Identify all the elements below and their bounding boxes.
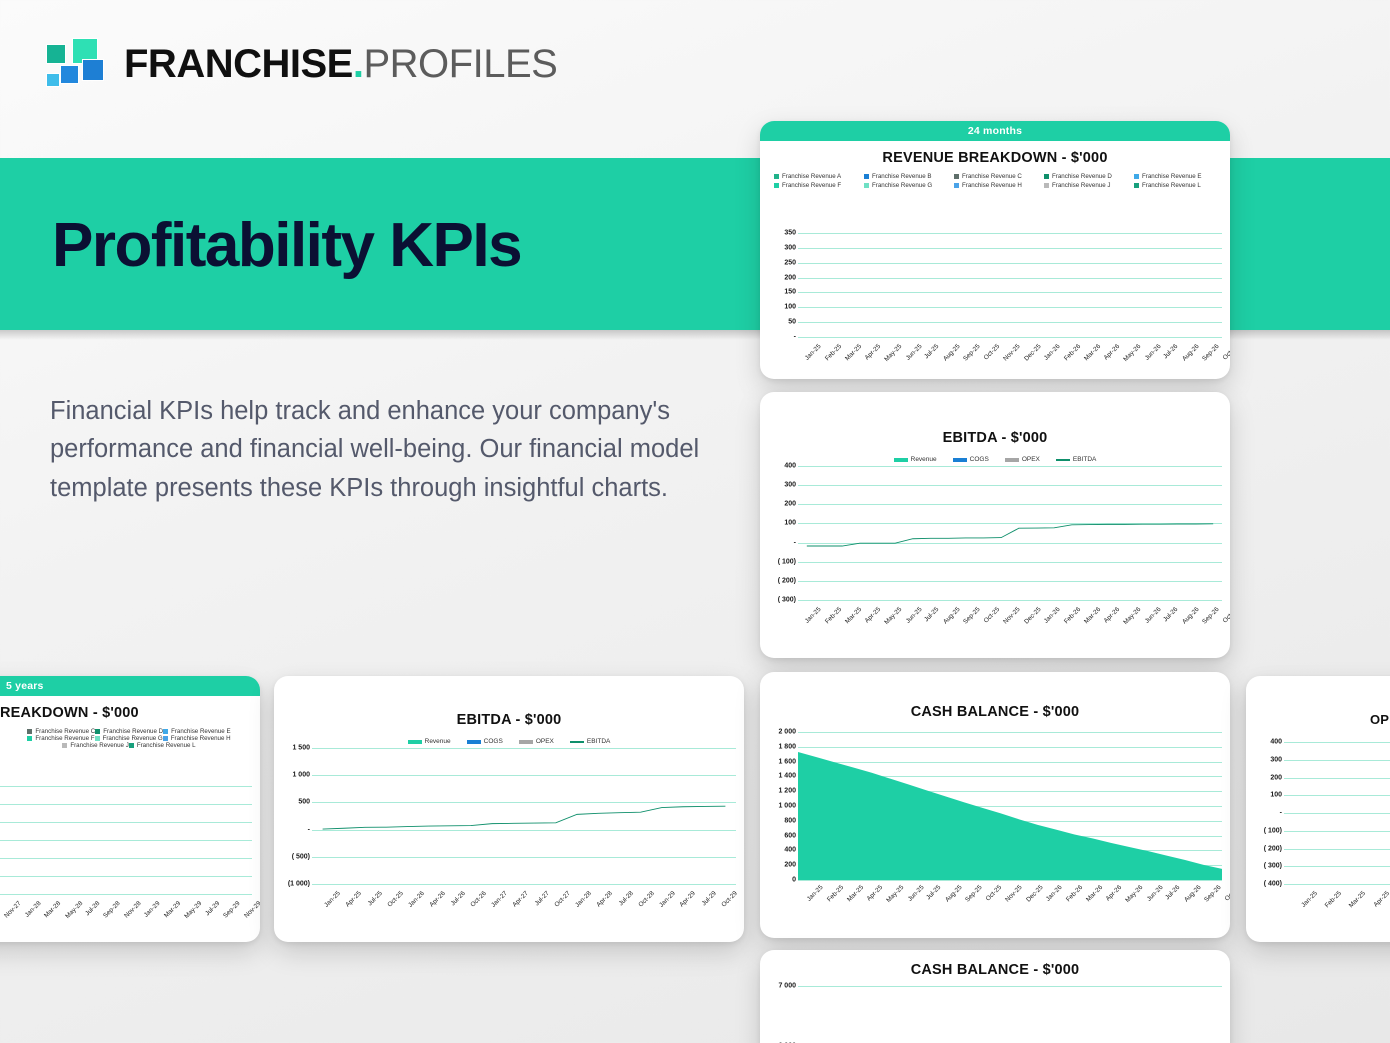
legend-swatch-icon: [519, 740, 533, 744]
x-axis-tick-label: Nov-25: [1002, 606, 1022, 626]
legend-item: Franchise Revenue E: [163, 728, 231, 735]
y-axis-tick-label: 100: [1270, 792, 1282, 799]
x-axis-tick-label: Jan-25: [804, 343, 823, 362]
x-axis-tick-label: Feb-25: [825, 884, 844, 903]
legend-label: OPEX: [1022, 456, 1040, 463]
y-axis-tick-label: 400: [784, 463, 796, 470]
bar-column: [30, 786, 37, 894]
x-axis-tick-label: Mar-25: [846, 884, 865, 903]
legend-swatch-icon: [774, 174, 779, 179]
bar-column: [59, 786, 66, 894]
bar-column: [185, 786, 192, 894]
x-axis-tick-label: Jul-27: [531, 890, 551, 910]
x-axis-tick-label: Jun-25: [904, 606, 923, 625]
x-axis-tick-label: Jul-26: [1164, 884, 1181, 901]
x-axis-tick-label: Jul-25: [925, 884, 942, 901]
x-axis-tick-label: Sep-26: [1203, 884, 1223, 904]
chart-title-ebitda-5y: EBITDA - $'000: [274, 712, 744, 728]
legend-revenue-series: Franchise Revenue AFranchise Revenue BFr…: [760, 173, 1230, 191]
legend-swatch-icon: [1056, 459, 1070, 461]
x-axis-tick-label: Jun-26: [1145, 884, 1164, 903]
x-axis-tick-label: Aug-25: [944, 884, 964, 904]
bar-column: [178, 786, 185, 894]
x-axis-tick-label: Jan-29: [657, 890, 677, 910]
bar-column: [0, 786, 7, 894]
chart-plot-ebitda-24m: 400300200100-( 100)( 200)( 300): [768, 466, 1224, 600]
x-axis-tick-label: Oct-26: [468, 890, 488, 910]
cash-balance-area: [798, 732, 1222, 880]
chart-plot-opex: 400300200100-( 100)( 200)( 300)( 400): [1254, 742, 1390, 884]
legend-item: OPEX: [519, 738, 554, 745]
chart-title-revenue-24m: REVENUE BREAKDOWN - $'000: [760, 150, 1230, 166]
bar-column: [1381, 742, 1390, 884]
y-axis-tick-label: ( 300): [778, 597, 796, 604]
x-axis-tick-label: Mar-25: [844, 343, 863, 362]
x-axis-tick-label: Jul-28: [84, 900, 101, 917]
x-axis-tick-label: Apr-25: [1369, 890, 1390, 912]
chart-xaxis-ebitda-5y: Jan-25Apr-25Jul-25Oct-25Jan-26Apr-26Jul-…: [316, 890, 734, 897]
y-axis-tick-label: ( 500): [292, 853, 310, 860]
card-ebitda-5y[interactable]: EBITDA - $'000 RevenueCOGSOPEXEBITDA 1 5…: [274, 676, 744, 942]
ebitda-line-overlay: [312, 748, 736, 884]
legend-item: Revenue: [408, 738, 451, 745]
bar-column: [44, 786, 51, 894]
bar-column: [975, 233, 993, 337]
logo-dot: .: [353, 42, 364, 86]
bar-column: [89, 786, 96, 894]
x-axis-tick-label: Aug-26: [1181, 343, 1201, 363]
bar-column: [126, 786, 133, 894]
x-axis-tick-label: Feb-25: [823, 343, 842, 362]
x-axis-tick-label: Oct-27: [552, 890, 572, 910]
chart-bars: [1284, 742, 1390, 884]
y-axis-tick-label: 800: [784, 817, 796, 824]
chart-plot-revenue-24m: -50100150200250300350: [768, 233, 1224, 337]
bar-column: [886, 233, 904, 337]
legend-label: OPEX: [536, 738, 554, 745]
card-opex[interactable]: OPE 400300200100-( 100)( 200)( 300)( 400…: [1246, 676, 1390, 942]
x-axis-tick-label: Apr-25: [864, 606, 883, 625]
chart-title-opex: OPE: [1246, 712, 1390, 727]
legend-swatch-icon: [1134, 174, 1139, 179]
y-axis-tick-label: 150: [784, 289, 796, 296]
x-axis-tick-label: Feb-26: [1065, 884, 1084, 903]
x-axis-tick-label: May-26: [1123, 606, 1143, 626]
x-axis-tick-label: Mar-26: [1083, 606, 1102, 625]
bar-column: [1151, 233, 1169, 337]
bar-column: [1045, 233, 1063, 337]
legend-item: Franchise Revenue A: [770, 173, 860, 180]
legend-revenue-5y-series: Franchise Revenue CFranchise Revenue DFr…: [0, 728, 260, 749]
x-axis-tick-label: Oct-25: [385, 890, 405, 910]
y-axis-tick-label: 7 000: [778, 983, 796, 990]
x-axis-tick-label: Jul-26: [1162, 343, 1179, 360]
bar-column: [111, 786, 118, 894]
x-axis-tick-label: Sep-26: [1201, 343, 1221, 363]
x-axis-tick-label: Nov-28: [123, 900, 143, 920]
x-axis-tick-label: May-25: [885, 884, 905, 904]
bar-column: [245, 786, 252, 894]
y-axis-tick-label: 50: [788, 319, 796, 326]
y-axis-tick-label: ( 300): [1264, 863, 1282, 870]
x-axis-tick-label: Sep-25: [962, 343, 982, 363]
legend-label: COGS: [484, 738, 503, 745]
chart-yaxis: 400300200100-( 100)( 200)( 300): [768, 466, 798, 600]
bar-column: [904, 233, 922, 337]
bar-column: [922, 233, 940, 337]
bar-column: [1357, 742, 1381, 884]
legend-item: Franchise Revenue D: [95, 728, 163, 735]
bar-column: [1134, 233, 1152, 337]
legend-label: Franchise Revenue F: [35, 735, 94, 742]
legend-item: COGS: [467, 738, 503, 745]
x-axis-tick-label: Aug-25: [942, 606, 962, 626]
gridline: [798, 600, 1222, 601]
x-axis-tick-label: Sep-27: [0, 900, 2, 920]
chart-xaxis-opex: Jan-25Feb-25Mar-25Apr-25May-25Jun-25Jul-…: [1290, 890, 1390, 897]
legend-item: Revenue: [894, 456, 937, 463]
x-axis-tick-label: May-26: [1123, 343, 1143, 363]
y-axis-tick-label: 1 000: [778, 803, 796, 810]
legend-swatch-icon: [953, 458, 967, 462]
legend-item: Franchise Revenue J: [62, 742, 128, 749]
x-axis-tick-label: Jun-26: [1143, 343, 1162, 362]
x-axis-tick-label: May-28: [64, 900, 84, 920]
bar-column: [869, 233, 887, 337]
y-axis-tick-label: ( 400): [1264, 881, 1282, 888]
chart-title-revenue-5y: REAKDOWN - $'000: [0, 705, 260, 721]
bar-column: [67, 786, 74, 894]
y-axis-tick-label: 300: [784, 482, 796, 489]
x-axis-tick-label: Oct-29: [719, 890, 739, 910]
x-axis-tick-label: Jul-25: [923, 606, 940, 623]
bar-column: [237, 786, 244, 894]
y-axis-tick-label: -: [308, 826, 310, 833]
card-cash-balance-24m[interactable]: CASH BALANCE - $'000 2 0001 8001 6001 40…: [760, 672, 1230, 938]
bar-column: [134, 786, 141, 894]
legend-swatch-icon: [864, 183, 869, 188]
legend-swatch-icon: [774, 183, 779, 188]
x-axis-tick-label: Jan-28: [573, 890, 593, 910]
y-axis-tick-label: -: [794, 539, 796, 546]
ebitda-line-overlay: [798, 466, 1222, 600]
x-axis-tick-label: Apr-26: [1103, 343, 1122, 362]
legend-swatch-icon: [570, 741, 584, 743]
legend-label: Franchise Revenue L: [1142, 182, 1201, 189]
bar-column: [119, 786, 126, 894]
bar-column: [798, 233, 816, 337]
legend-item: Franchise Revenue L: [1130, 182, 1220, 189]
y-axis-tick-label: 600: [784, 832, 796, 839]
x-axis-tick-label: Apr-26: [1103, 606, 1122, 625]
chart-title-ebitda-24m: EBITDA - $'000: [760, 430, 1230, 446]
legend-label: Franchise Revenue A: [782, 173, 841, 180]
legend-swatch-icon: [163, 736, 168, 741]
legend-item: Franchise Revenue H: [163, 735, 231, 742]
x-axis-tick-label: Jun-26: [1143, 606, 1162, 625]
chart-title-cash-5y: CASH BALANCE - $'000: [760, 962, 1230, 978]
gridline: [798, 880, 1222, 881]
x-axis-tick-label: Jul-26: [1162, 606, 1179, 623]
x-axis-tick-label: Apr-25: [343, 890, 363, 910]
chart-plot-revenue-5y: [0, 786, 254, 894]
x-axis-tick-label: Jan-25: [806, 884, 825, 903]
chart-xaxis-ebitda-24m: Jan-25Feb-25Mar-25Apr-25May-25Jun-25Jul-…: [798, 606, 1216, 613]
legend-label: Franchise Revenue L: [137, 742, 196, 749]
card-tab-5-years[interactable]: 5 years: [0, 676, 260, 696]
x-axis-tick-label: Apr-28: [594, 890, 614, 910]
bar-column: [156, 786, 163, 894]
x-axis-tick-label: Jul-26: [448, 890, 468, 910]
chart-plot-cash-5y: 7 0006 0005 000: [768, 986, 1224, 1043]
legend-swatch-icon: [95, 729, 100, 734]
x-axis-tick-label: Jul-28: [615, 890, 635, 910]
bar-column: [816, 233, 834, 337]
x-axis-tick-label: Jun-25: [906, 884, 925, 903]
legend-item: Franchise Revenue C: [27, 728, 95, 735]
legend-label: Franchise Revenue D: [1052, 173, 1112, 180]
bar-column: [1116, 233, 1134, 337]
chart-yaxis: 2 0001 8001 6001 4001 2001 0008006004002…: [768, 732, 798, 880]
gridline: [0, 894, 252, 895]
bar-column: [230, 786, 237, 894]
x-axis-tick-label: Mar-26: [1085, 884, 1104, 903]
legend-swatch-icon: [95, 736, 100, 741]
bar-column: [833, 233, 851, 337]
bar-column: [7, 786, 14, 894]
card-revenue-breakdown-5y[interactable]: 5 years REAKDOWN - $'000 Franchise Reven…: [0, 676, 260, 942]
legend-swatch-icon: [864, 174, 869, 179]
bar-column: [163, 786, 170, 894]
gridline: [1284, 884, 1390, 885]
legend-label: Franchise Revenue J: [70, 742, 128, 749]
x-axis-tick-label: Mar-29: [163, 900, 182, 919]
legend-label: Franchise Revenue H: [962, 182, 1022, 189]
y-axis-tick-label: 1 000: [292, 772, 310, 779]
x-axis-tick-label: Aug-26: [1181, 606, 1201, 626]
bar-column: [82, 786, 89, 894]
y-axis-tick-label: 200: [784, 862, 796, 869]
bar-column: [1204, 233, 1222, 337]
x-axis-tick-label: Sep-28: [102, 900, 122, 920]
legend-item: Franchise Revenue C: [950, 173, 1040, 180]
card-cash-balance-5y[interactable]: CASH BALANCE - $'000 7 0006 0005 000: [760, 950, 1230, 1043]
logo-word-bold: FRANCHISE: [124, 42, 353, 86]
legend-label: Franchise Revenue B: [872, 173, 932, 180]
y-axis-tick-label: 200: [1270, 774, 1282, 781]
x-axis-tick-label: Jul-29: [698, 890, 718, 910]
bar-column: [1333, 742, 1357, 884]
bar-column: [1081, 233, 1099, 337]
x-axis-tick-label: Sep-29: [222, 900, 242, 920]
x-axis-tick-label: Oct-26: [1223, 884, 1230, 903]
chart-xaxis-revenue-5y: Jan-27Mar-27May-27Jul-27Sep-27Nov-27Jan-…: [0, 900, 246, 907]
legend-label: EBITDA: [587, 738, 610, 745]
chart-title-cash-24m: CASH BALANCE - $'000: [760, 704, 1230, 720]
legend-item: Franchise Revenue B: [860, 173, 950, 180]
bar-column: [215, 786, 222, 894]
x-axis-tick-label: Mar-28: [43, 900, 62, 919]
x-axis-tick-label: Jan-29: [143, 900, 162, 919]
x-axis-tick-label: Apr-26: [1105, 884, 1124, 903]
legend-swatch-icon: [1044, 183, 1049, 188]
chart-bars: [0, 786, 252, 894]
bar-column: [22, 786, 29, 894]
bar-column: [96, 786, 103, 894]
legend-item: Franchise Revenue D: [1040, 173, 1130, 180]
hero-body-text: Financial KPIs help track and enhance yo…: [50, 392, 710, 507]
bar-column: [104, 786, 111, 894]
legend-item: Franchise Revenue G: [95, 735, 163, 742]
y-axis-tick-label: 1 500: [292, 745, 310, 752]
x-axis-tick-label: Nov-29: [243, 900, 260, 920]
x-axis-tick-label: Sep-25: [964, 884, 984, 904]
bar-column: [223, 786, 230, 894]
bar-column: [1169, 233, 1187, 337]
card-ebitda-24m[interactable]: EBITDA - $'000 RevenueCOGSOPEXEBITDA 400…: [760, 392, 1230, 658]
legend-label: COGS: [970, 456, 989, 463]
y-axis-tick-label: (1 000): [288, 881, 310, 888]
bar-column: [208, 786, 215, 894]
x-axis-tick-label: Jan-25: [1297, 890, 1319, 912]
logo-wordmark: FRANCHISE.PROFILES: [124, 44, 557, 84]
legend-swatch-icon: [62, 743, 67, 748]
x-axis-tick-label: Jun-25: [904, 343, 923, 362]
x-axis-tick-label: Jan-28: [23, 900, 42, 919]
legend-label: Revenue: [911, 456, 937, 463]
y-axis-tick-label: 1 200: [778, 788, 796, 795]
x-axis-tick-label: Jul-25: [364, 890, 384, 910]
bar-column: [171, 786, 178, 894]
legend-item: COGS: [953, 456, 989, 463]
bar-column: [74, 786, 81, 894]
x-axis-tick-label: Dec-25: [1023, 343, 1043, 363]
y-axis-tick-label: 400: [1270, 739, 1282, 746]
legend-label: Franchise Revenue G: [872, 182, 932, 189]
y-axis-tick-label: ( 200): [778, 577, 796, 584]
x-axis-tick-label: Jul-25: [923, 343, 940, 360]
y-axis-tick-label: -: [1280, 810, 1282, 817]
legend-swatch-icon: [1134, 183, 1139, 188]
bar-column: [15, 786, 22, 894]
x-axis-tick-label: Feb-26: [1063, 343, 1082, 362]
x-axis-tick-label: May-29: [184, 900, 204, 920]
legend-label: Franchise Revenue C: [962, 173, 1022, 180]
card-tab-24-months[interactable]: 24 months: [760, 121, 1230, 141]
legend-item: EBITDA: [570, 738, 610, 745]
card-revenue-breakdown-24m[interactable]: 24 months REVENUE BREAKDOWN - $'000 Fran…: [760, 121, 1230, 379]
x-axis-tick-label: Nov-25: [1004, 884, 1024, 904]
x-axis-tick-label: Apr-26: [427, 890, 447, 910]
y-axis-tick-label: 0: [792, 877, 796, 884]
legend-swatch-icon: [27, 736, 32, 741]
legend-swatch-icon: [1044, 174, 1049, 179]
y-axis-tick-label: 300: [1270, 756, 1282, 763]
chart-xaxis-cash-24m: Jan-25Feb-25Mar-25Apr-25May-25Jun-25Jul-…: [800, 884, 1222, 891]
x-axis-tick-label: Jan-26: [1043, 606, 1062, 625]
x-axis-tick-label: Aug-25: [942, 343, 962, 363]
chart-yaxis: 1 5001 000500-( 500)(1 000): [282, 748, 312, 884]
legend-item: OPEX: [1005, 456, 1040, 463]
x-axis-tick-label: Apr-27: [510, 890, 530, 910]
x-axis-tick-label: Nov-25: [1002, 343, 1022, 363]
x-axis-tick-label: Sep-25: [962, 606, 982, 626]
x-axis-tick-label: Oct-26: [1221, 343, 1230, 362]
bar-column: [148, 786, 155, 894]
legend-item: Franchise Revenue H: [950, 182, 1040, 189]
legend-item: Franchise Revenue F: [770, 182, 860, 189]
legend-swatch-icon: [954, 183, 959, 188]
x-axis-tick-label: Jul-29: [204, 900, 221, 917]
x-axis-tick-label: Jan-26: [1045, 884, 1064, 903]
legend-swatch-icon: [894, 458, 908, 462]
x-axis-tick-label: Oct-28: [636, 890, 656, 910]
legend-swatch-icon: [408, 740, 422, 744]
x-axis-tick-label: Oct-26: [1221, 606, 1230, 625]
legend-swatch-icon: [1005, 458, 1019, 462]
gridline: [312, 884, 736, 885]
x-axis-tick-label: Oct-25: [982, 343, 1001, 362]
x-axis-tick-label: Jan-27: [489, 890, 509, 910]
x-axis-tick-label: Jan-25: [804, 606, 823, 625]
x-axis-tick-label: Aug-26: [1183, 884, 1203, 904]
x-axis-tick-label: Mar-25: [1345, 890, 1367, 912]
bar-column: [37, 786, 44, 894]
y-axis-tick-label: ( 100): [1264, 827, 1282, 834]
legend-label: EBITDA: [1073, 456, 1096, 463]
x-axis-tick-label: Apr-25: [866, 884, 885, 903]
x-axis-tick-label: Sep-26: [1201, 606, 1221, 626]
x-axis-tick-label: Oct-25: [982, 606, 1001, 625]
y-axis-tick-label: 2 000: [778, 729, 796, 736]
x-axis-tick-label: Jan-26: [406, 890, 426, 910]
legend-label: Franchise Revenue C: [35, 728, 95, 735]
y-axis-tick-label: 1 600: [778, 758, 796, 765]
x-axis-tick-label: Apr-25: [864, 343, 883, 362]
legend-item: Franchise Revenue L: [129, 742, 196, 749]
bar-column: [851, 233, 869, 337]
cash-balance-5y-area: [798, 986, 1222, 1043]
legend-item: Franchise Revenue J: [1040, 182, 1130, 189]
legend-label: Franchise Revenue E: [1142, 173, 1202, 180]
bar-column: [1028, 233, 1046, 337]
y-axis-tick-label: 400: [784, 847, 796, 854]
x-axis-tick-label: Jan-26: [1043, 343, 1062, 362]
x-axis-tick-label: Feb-26: [1063, 606, 1082, 625]
chart-yaxis: -50100150200250300350: [768, 233, 798, 337]
bar-column: [1098, 233, 1116, 337]
x-axis-tick-label: Mar-25: [844, 606, 863, 625]
bar-column: [141, 786, 148, 894]
legend-swatch-icon: [27, 729, 32, 734]
y-axis-tick-label: 250: [784, 259, 796, 266]
legend-swatch-icon: [954, 174, 959, 179]
gridline: [798, 337, 1222, 338]
y-axis-tick-label: -: [794, 334, 796, 341]
legend-ebitda-5y-series: RevenueCOGSOPEXEBITDA: [274, 738, 744, 745]
legend-label: Franchise Revenue E: [171, 728, 231, 735]
x-axis-tick-label: May-25: [883, 343, 903, 363]
x-axis-tick-label: Feb-25: [823, 606, 842, 625]
bar-column: [1187, 233, 1205, 337]
bar-column: [992, 233, 1010, 337]
bar-column: [1010, 233, 1028, 337]
legend-ebitda-series: RevenueCOGSOPEXEBITDA: [760, 456, 1230, 463]
chart-plot-cash-24m: 2 0001 8001 6001 4001 2001 0008006004002…: [768, 732, 1224, 880]
x-axis-tick-label: Nov-27: [3, 900, 23, 920]
chart-bars: [798, 233, 1222, 337]
x-axis-tick-label: Dec-25: [1023, 606, 1043, 626]
